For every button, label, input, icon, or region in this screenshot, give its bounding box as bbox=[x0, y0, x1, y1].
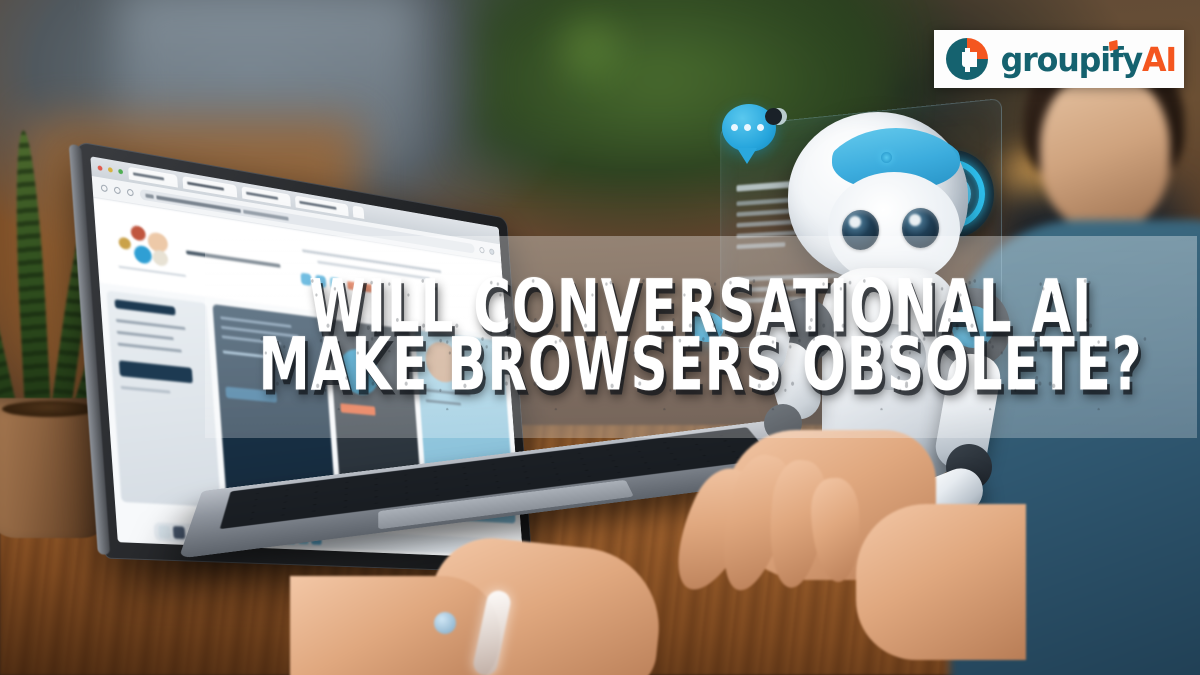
back-icon[interactable] bbox=[101, 184, 108, 192]
person-head bbox=[1040, 70, 1170, 230]
window-max-dot[interactable] bbox=[118, 168, 123, 174]
groupify-ai-logo[interactable]: groupify AI bbox=[934, 30, 1184, 88]
title-line-2: MAKE BROWSERS OBSOLETE? bbox=[259, 330, 1143, 403]
forward-icon[interactable] bbox=[114, 186, 121, 194]
reload-icon[interactable] bbox=[127, 189, 134, 197]
page-logo-cluster bbox=[116, 223, 176, 272]
page-card[interactable] bbox=[106, 290, 221, 507]
bokeh-light-4 bbox=[560, 18, 620, 78]
thumbnail-canvas: WILL CONVERSATIONAL AI MAKE BROWSERS OBS… bbox=[0, 0, 1200, 675]
dock-app-icon[interactable] bbox=[158, 525, 171, 538]
right-wrist bbox=[856, 504, 1026, 660]
browser-new-tab[interactable] bbox=[352, 205, 364, 219]
pot-soil bbox=[2, 401, 96, 417]
groupify-circle-mark-icon bbox=[946, 38, 988, 80]
window-close-dot[interactable] bbox=[97, 165, 102, 171]
title-block: WILL CONVERSATIONAL AI MAKE BROWSERS OBS… bbox=[205, 236, 1197, 438]
logo-brand-primary: groupify bbox=[1001, 40, 1142, 79]
chat-bubble-tail bbox=[737, 148, 757, 164]
logo-i-dot-icon bbox=[1109, 39, 1118, 50]
left-hand-resting bbox=[430, 520, 730, 675]
robot-forehead-light bbox=[881, 152, 892, 163]
window-min-dot[interactable] bbox=[108, 167, 113, 173]
logo-brand-secondary: AI bbox=[1142, 40, 1176, 79]
bracelet-bead bbox=[434, 612, 456, 634]
dock-app-icon[interactable] bbox=[173, 526, 186, 539]
logo-wordmark: groupify AI bbox=[1001, 40, 1176, 79]
left-wrist bbox=[290, 576, 500, 675]
